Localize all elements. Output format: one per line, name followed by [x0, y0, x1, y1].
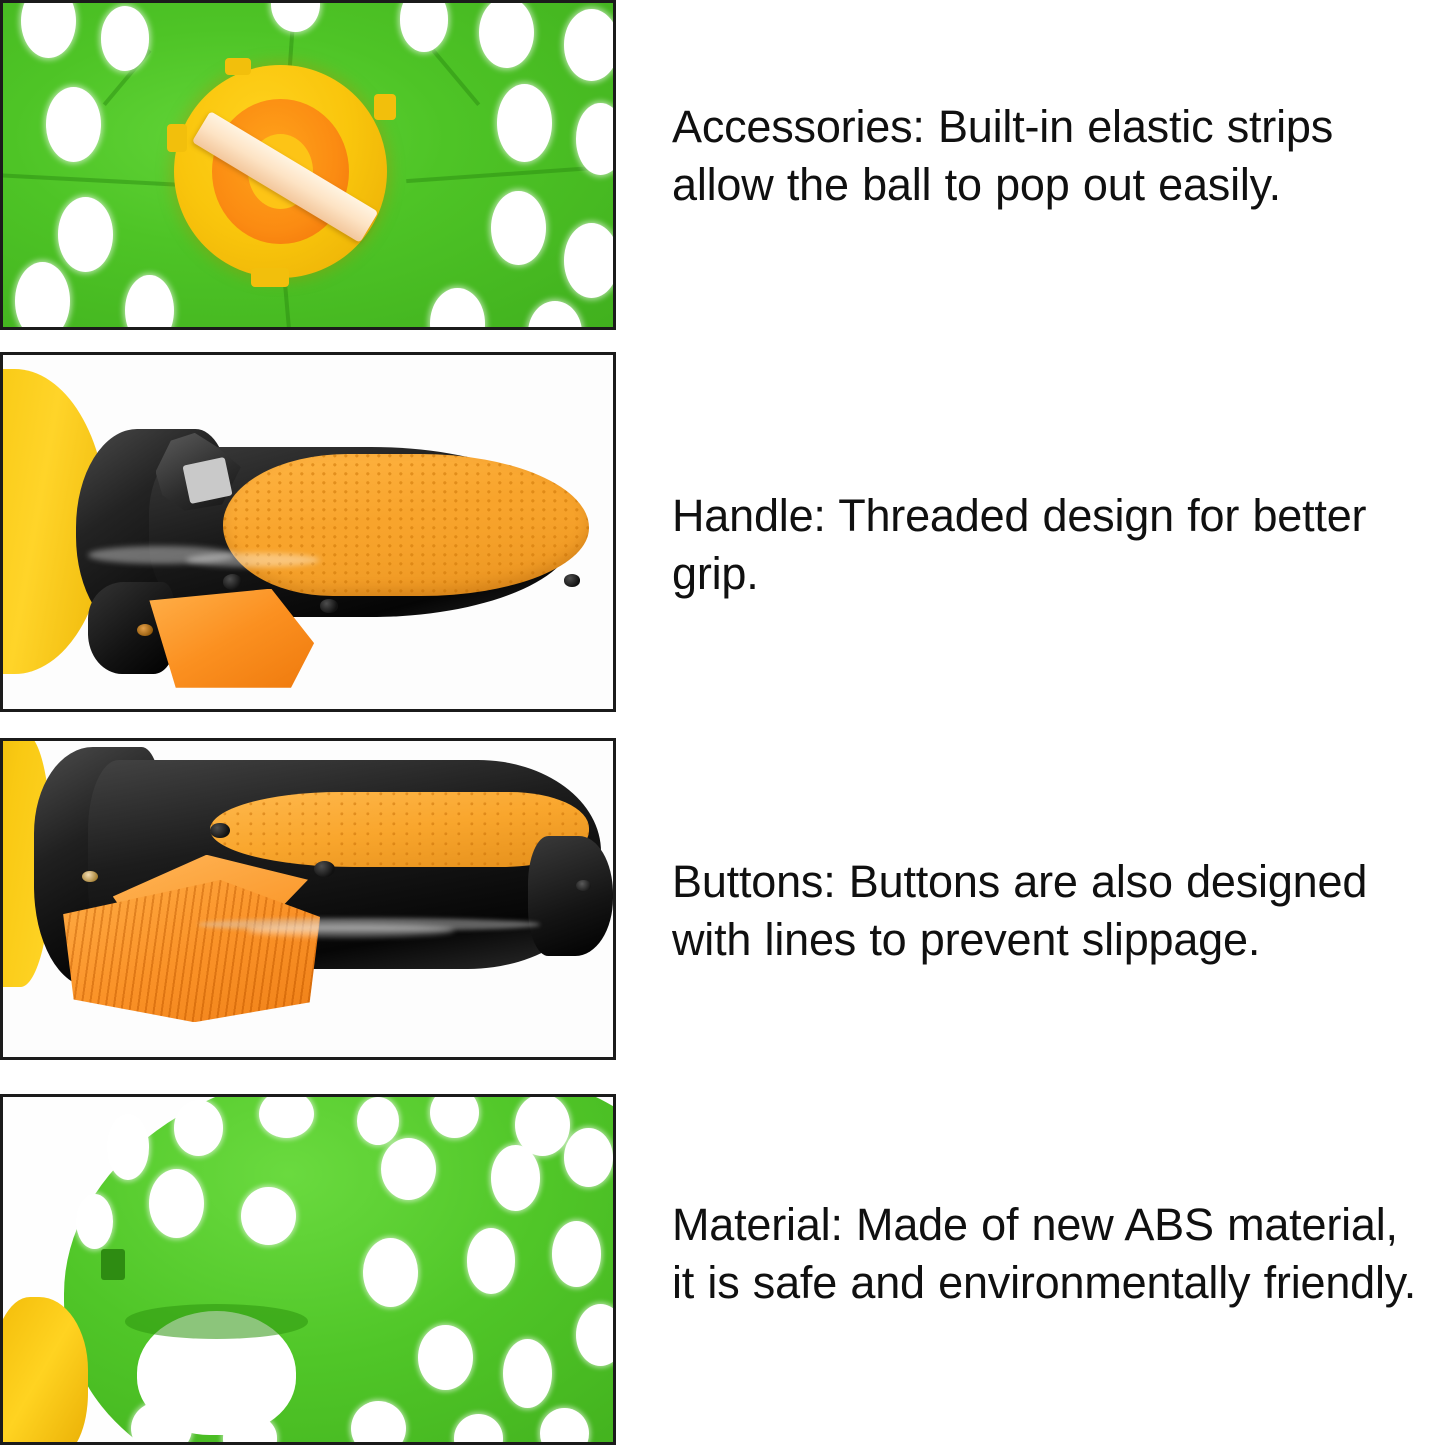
highlight	[247, 924, 454, 937]
caption-buttons: Buttons: Buttons are also designed with …	[672, 853, 1422, 968]
basket-hole	[497, 84, 552, 162]
handle-end-cap	[528, 836, 613, 956]
hub-notch	[374, 94, 395, 120]
dome-hole	[174, 1100, 223, 1155]
dome-hole	[576, 1304, 616, 1366]
dome-hole	[503, 1339, 552, 1408]
photo-abs-green-dome	[0, 1094, 616, 1445]
basket-hole	[479, 0, 534, 68]
dome-hole	[467, 1228, 516, 1294]
hub-notch	[167, 124, 186, 152]
center-hub-disc	[174, 65, 388, 279]
screw-dot	[210, 823, 230, 838]
caption-accessories: Accessories: Built-in elastic strips all…	[672, 98, 1422, 213]
orange-textured-grip	[223, 454, 589, 596]
dome-hole	[491, 1145, 540, 1211]
photo-ribbed-trigger-button	[0, 738, 616, 1060]
dome-hole	[76, 1194, 113, 1249]
dome-rim-edge	[125, 1304, 308, 1339]
photo-basket-interior-hub	[0, 0, 616, 330]
basket-hole	[564, 223, 616, 298]
photo-handle-textured-grip	[0, 352, 616, 712]
basket-hole	[491, 191, 546, 266]
dome-hole	[107, 1114, 150, 1180]
basket-hole	[564, 9, 616, 80]
dome-hole	[241, 1187, 296, 1246]
screw-dot	[137, 624, 153, 636]
dome-notch	[101, 1249, 125, 1280]
dome-hole	[418, 1325, 473, 1391]
screw-dot	[576, 880, 591, 891]
dome-hole	[552, 1221, 601, 1287]
product-feature-infographic: Accessories: Built-in elastic strips all…	[0, 0, 1445, 1445]
screw-dot	[320, 599, 338, 612]
caption-handle: Handle: Threaded design for better grip.	[672, 487, 1422, 602]
screw-dot	[314, 861, 335, 877]
basket-hole	[58, 197, 113, 272]
dome-hole	[564, 1128, 613, 1187]
basket-hole	[101, 6, 150, 71]
caption-material: Material: Made of new ABS material, it i…	[672, 1196, 1422, 1311]
screw-dot	[82, 871, 98, 882]
basket-hole	[46, 87, 101, 162]
hub-notch	[251, 268, 289, 287]
hub-notch	[225, 58, 251, 75]
screw-dot	[564, 574, 580, 586]
basket-hole	[576, 103, 616, 174]
dome-hole	[363, 1238, 418, 1307]
screw-dot	[223, 574, 243, 590]
basket-hole	[15, 262, 70, 330]
